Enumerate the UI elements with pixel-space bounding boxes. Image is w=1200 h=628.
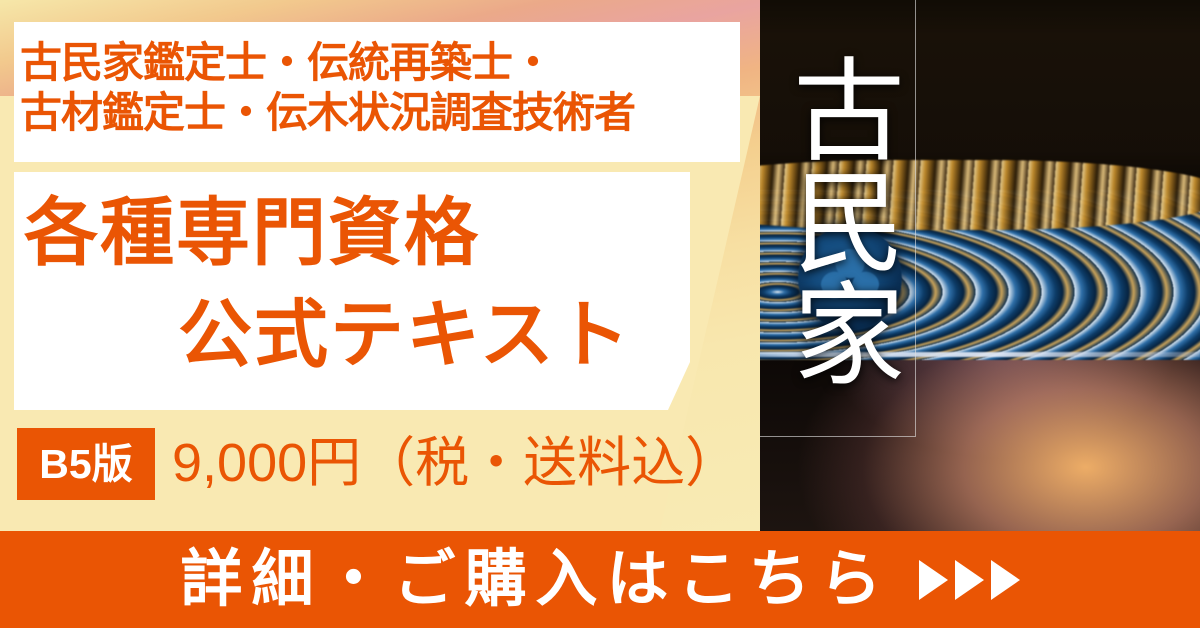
book-cover-title: 古民家 [772, 10, 902, 430]
format-badge-label: B5版 [39, 444, 132, 485]
certification-line-2: 古材鑑定士・伝木状況調査技術者 [20, 92, 635, 134]
cta-arrow-group [919, 560, 1020, 600]
cta-label: 詳細・ご購入はこちら [180, 549, 890, 611]
headline-line-1: 各種専門資格 [24, 196, 480, 270]
price-label: 9,000円（税・送料込） [172, 436, 739, 490]
headline-line-2: 公式テキスト [178, 298, 632, 372]
promo-banner: 古民家 伝統構法、古民家活用のための調査と再生の 古民家鑑定士・伝統再築士・ 古… [0, 0, 1200, 628]
certification-line-1: 古民家鑑定士・伝統再築士・ [20, 42, 553, 84]
triangle-right-icon [991, 560, 1020, 600]
cta-button-bar[interactable]: 詳細・ご購入はこちら [0, 531, 1200, 628]
format-badge: B5版 [17, 428, 155, 500]
triangle-right-icon [919, 560, 948, 600]
triangle-right-icon [955, 560, 984, 600]
